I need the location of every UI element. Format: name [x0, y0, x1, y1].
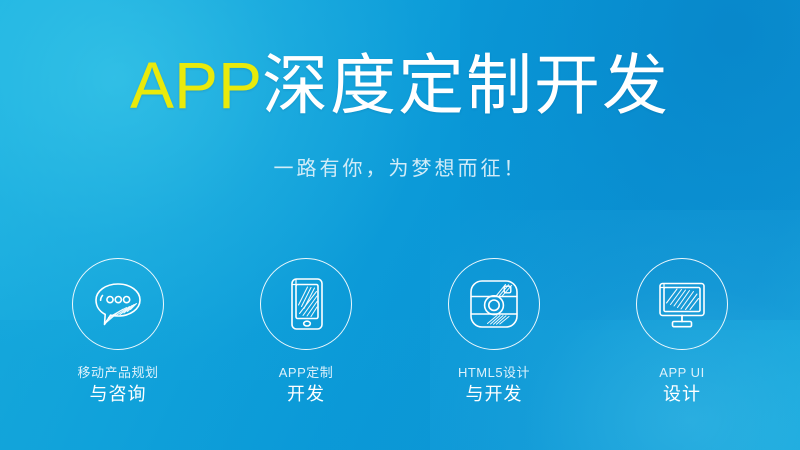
feature-item-consulting[interactable]: 移动产品规划 与咨询 — [60, 258, 176, 404]
feature-labels: HTML5设计 与开发 — [458, 366, 530, 404]
title-app-accent: APP — [130, 48, 262, 122]
feature-labels: APP定制 开发 — [279, 366, 334, 404]
feature-label-main: 设计 — [659, 384, 704, 404]
desktop-monitor-icon — [653, 278, 711, 330]
promo-banner: APP深度定制开发 一路有你，为梦想而征！ — [0, 0, 800, 450]
page-title: APP深度定制开发 — [0, 52, 800, 118]
feature-list: 移动产品规划 与咨询 — [0, 258, 800, 404]
icon-circle — [260, 258, 352, 350]
feature-item-app-ui[interactable]: APP UI 设计 — [624, 258, 740, 404]
feature-item-app-development[interactable]: APP定制 开发 — [248, 258, 364, 404]
feature-label-main: 与开发 — [458, 384, 530, 404]
tablet-device-icon — [283, 275, 329, 333]
feature-label-top: 移动产品规划 — [77, 366, 158, 381]
page-subtitle: 一路有你，为梦想而征！ — [0, 152, 800, 181]
feature-label-main: 开发 — [279, 384, 334, 404]
icon-circle — [636, 258, 728, 350]
feature-label-main: 与咨询 — [77, 384, 158, 404]
feature-item-html5[interactable]: HTML5设计 与开发 — [436, 258, 552, 404]
chat-bubble-icon — [90, 278, 146, 330]
feature-label-top: APP定制 — [279, 366, 334, 381]
feature-labels: APP UI 设计 — [659, 366, 704, 404]
feature-label-top: APP UI — [659, 366, 704, 381]
feature-labels: 移动产品规划 与咨询 — [77, 366, 158, 404]
icon-circle — [72, 258, 164, 350]
feature-label-top: HTML5设计 — [458, 366, 530, 381]
icon-circle — [448, 258, 540, 350]
camera-icon — [466, 276, 522, 332]
title-chinese: 深度定制开发 — [262, 48, 670, 122]
